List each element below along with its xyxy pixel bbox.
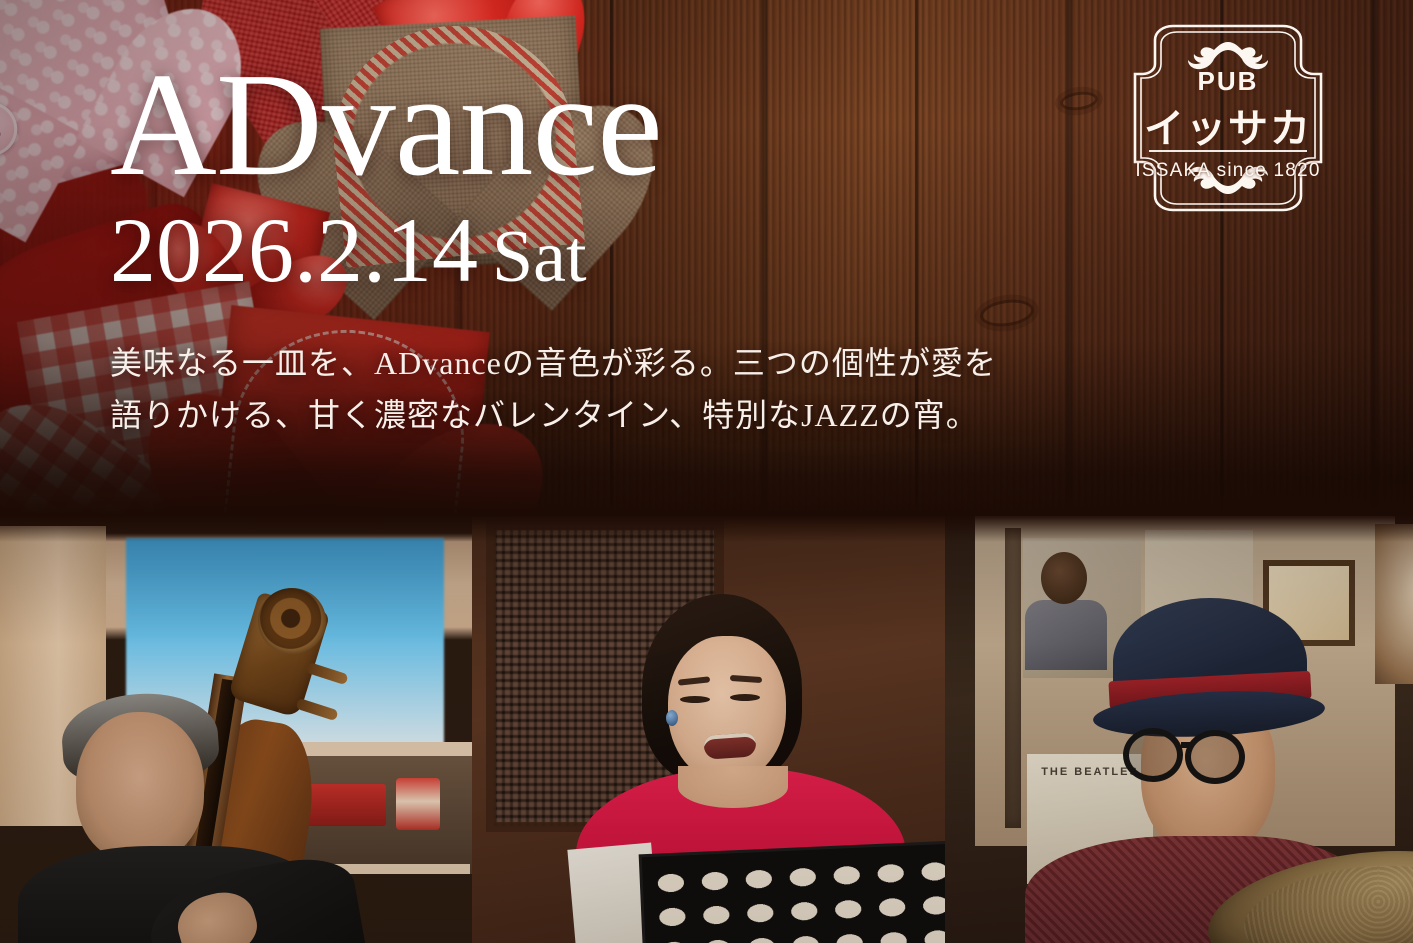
pub-issaka-logo: PUB イッサカ ISSAKA since 1820 [1121, 18, 1335, 218]
photo-double-bass-player [0, 516, 472, 943]
event-date: 2026.2.14Sat [110, 201, 997, 300]
photo-color-grade [0, 516, 472, 943]
event-date-value: 2026.2.14 [110, 199, 478, 301]
logo-divider [1149, 150, 1307, 152]
event-day-of-week: Sat [492, 216, 587, 298]
performer-photo-strip: THE BEATLES [0, 516, 1413, 943]
event-flyer: ADvance 2026.2.14Sat 美味なる一皿を、ADvanceの音色が… [0, 0, 1413, 943]
photo-drummer: THE BEATLES [945, 516, 1413, 943]
photo-top-fade [472, 516, 945, 542]
photo-top-fade [0, 516, 472, 542]
event-title: ADvance [110, 56, 997, 195]
logo-pub-label: PUB [1121, 66, 1335, 97]
event-description: 美味なる一皿を、ADvanceの音色が彩る。三つの個性が愛を 語りかける、甘く濃… [110, 338, 997, 442]
event-description-line-2: 語りかける、甘く濃密なバレンタイン、特別なJAZZの宵。 [110, 390, 997, 442]
photo-top-fade [945, 516, 1413, 542]
hero-text-block: ADvance 2026.2.14Sat 美味なる一皿を、ADvanceの音色が… [110, 56, 997, 442]
hero-banner: ADvance 2026.2.14Sat 美味なる一皿を、ADvanceの音色が… [0, 0, 1413, 516]
event-description-line-1: 美味なる一皿を、ADvanceの音色が彩る。三つの個性が愛を [110, 338, 997, 390]
photo-color-grade [945, 516, 1413, 943]
logo-shop-name: イッサカ [1121, 96, 1335, 154]
logo-since-label: ISSAKA since 1820 [1121, 160, 1335, 182]
photo-color-grade [472, 516, 945, 943]
photo-vocalist [472, 516, 945, 943]
